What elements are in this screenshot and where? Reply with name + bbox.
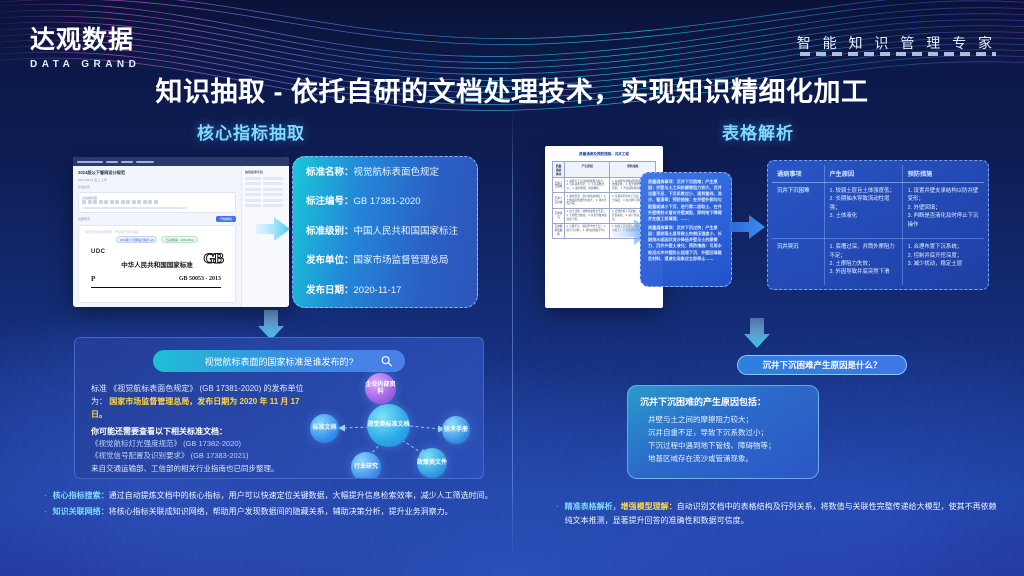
- arrow-right-icon-left: [256, 216, 290, 242]
- info-key: 标注编号：: [306, 196, 354, 207]
- bullet-lead: 知识关联网络：: [53, 507, 109, 516]
- answer-item: 地基区域存在流沙或管涌现象。: [640, 453, 806, 466]
- gb-rule-line: [91, 287, 221, 288]
- column-divider: [512, 108, 513, 558]
- doc-mock-side-row: [245, 182, 286, 185]
- page-title: 知识抽取 - 依托自研的文档处理技术，实现知识精细化加工: [0, 70, 1024, 109]
- doc-mock-toolbar-icons: [82, 200, 232, 204]
- doc-mock-meta: 2024-08-12 张三 上传: [78, 178, 236, 182]
- doc-mock-preview-note: 本文件仅供内容预览，严禁用于商业用途: [85, 230, 229, 234]
- info-value: 中国人民共和国国家标注: [354, 226, 459, 237]
- search-input[interactable]: 视觉航标表面的国家标准是谁发布的?: [153, 350, 405, 372]
- info-key: 标准名称：: [306, 167, 354, 178]
- section-title-left: 核心指标抽取: [197, 119, 305, 144]
- slide-canvas: 达观数据 DATA GRAND 智 能 知 识 管 理 专 家 知识抽取 - 依…: [0, 0, 1024, 576]
- extracted-fields-card: 标准名称：视觉航标表面色规定 标注编号：GB 17381-2020 标准级别：中…: [292, 156, 478, 308]
- table-cell-cause: 1. 刃脚不平、遇到不均匀土层； 2. 取土不对称； 3. 基坑边堆载不均。: [565, 223, 610, 238]
- info-value: 视觉航标表面色规定: [354, 167, 440, 178]
- doc-mock-main: 2024版公下管网设计规范 2024-08-12 张三 上传 标准文件 文档解析…: [73, 166, 241, 307]
- extract-paragraph: 质量通病事项：沉井下沉过快；产生原因：遇较弱土层导致土的侧压强度小、长期排水或因…: [648, 225, 724, 262]
- logo-text-en: DATA GRAND: [30, 59, 140, 70]
- doc-mock-side-row: [245, 177, 286, 180]
- structured-header-row: 通病事项 产生原因 预防措施: [772, 165, 984, 183]
- structured-table-grid: 通病事项 产生原因 预防措施 沉井下沉困难 1. 较弱土层且土体强度低； 2. …: [772, 165, 984, 285]
- structured-cell-cause: 1. 较弱土层且土体强度低； 2. 长期抽水导致流动性增强； 3. 土体液化: [824, 183, 902, 239]
- search-icon[interactable]: [380, 355, 393, 368]
- structured-cell-cause: 1. 底槽过深、井筒外摩阻力不足； 2. 土摩阻力失效； 3. 外因导致井底突然…: [824, 239, 902, 285]
- answer-bubble-right: 沉井下沉困难的产生原因包括： 井壁与土之间的摩擦阻力较大； 沉井自重不足，导致下…: [627, 385, 819, 479]
- doc-mock-preview: 本文件仅供内容预览，严禁用于商业用途 2024版公下管网设计规范.pdf 已完成…: [78, 225, 236, 303]
- tagline-underline: [800, 52, 996, 56]
- qa-answer-line1: 标准 《视觉航标表面色规定》 (GB 17381-2020) 的发布单位为： 国…: [91, 382, 307, 422]
- doc-mock-titlebar: [73, 157, 289, 166]
- table-mock-th: 产生原因: [565, 162, 610, 178]
- structured-cell-item: 沉井突沉: [772, 239, 824, 285]
- search-input-value: 视觉航标表面的国家标准是谁发布的?: [204, 355, 353, 368]
- bullet-text: 通过自动提炼文档中的核心指标，用户可以快速定位关键数据，大幅提升信息检索效率，减…: [109, 491, 493, 500]
- kg-node-tech-manual[interactable]: 技术手册: [442, 416, 470, 444]
- bullet-dot-icon: ·: [44, 505, 47, 519]
- info-key: 发布单位：: [306, 255, 354, 266]
- structured-th-item: 通病事项: [772, 165, 824, 183]
- arrow-right-icon-to-table: [729, 214, 765, 240]
- question-bubble-right[interactable]: 沉井下沉困难产生原因是什么？: [737, 355, 907, 375]
- logo-text-cn: 达观数据: [30, 20, 140, 56]
- gb-udc-label: UDC: [91, 249, 106, 255]
- answer-item: 下沉过程中遇到地下管线、障碍物等；: [640, 440, 806, 453]
- info-row: 发布日期：2020-11-17: [306, 286, 464, 296]
- structured-cell-item: 沉井下沉困难: [772, 183, 824, 239]
- table-cell-item: 沉井倾斜及偏移: [553, 223, 565, 238]
- structured-th-measure: 预防措施: [902, 165, 984, 183]
- info-value: GB 17381-2020: [354, 196, 421, 207]
- qa-answer-highlight: 国家市场监督管理总局，发布日期为 2020 年 11 月 17 日。: [91, 397, 300, 419]
- structured-table: 通病事项 产生原因 预防措施 沉井下沉困难 1. 较弱土层且土体强度低； 2. …: [767, 160, 989, 290]
- doc-mock-tag: 标准文件: [78, 185, 236, 189]
- kg-node-standard-doc[interactable]: 标准文档: [310, 414, 339, 443]
- info-row: 标注编号：GB 17381-2020: [306, 197, 464, 207]
- structured-table-row: 沉井突沉 1. 底槽过深、井筒外摩阻力不足； 2. 土摩阻力失效； 3. 外因导…: [772, 239, 984, 285]
- structured-table-row: 沉井下沉困难 1. 较弱土层且土体强度低； 2. 长期抽水导致流动性增强； 3.…: [772, 183, 984, 239]
- section-title-right: 表格解析: [722, 119, 794, 144]
- structured-th-cause: 产生原因: [824, 165, 902, 183]
- qa-answer-ref: 《视觉航标灯光强度规范》 (GB 17382-2020): [91, 438, 307, 450]
- structured-cell-measure: 1. 合理布置下沉系统； 2. 控制井底开挖深度； 3. 减少扰动，稳定土层: [902, 239, 984, 285]
- arrow-down-icon-right: [744, 318, 770, 348]
- extract-paragraph: 质量通病事项：沉井下沉困难；产生原因：井壁与土之间的摩擦阻力较大、沉井自重不足、…: [648, 179, 724, 222]
- info-row: 发布单位：国家市场监督管理总局: [306, 256, 464, 266]
- qa-answer-footer: 来自交通运输部、工信部的相关行业指南也已同步整理。: [91, 463, 307, 475]
- doc-mock-side-row: [245, 199, 286, 202]
- info-value: 国家市场监督管理总局: [354, 255, 449, 266]
- info-value: 2020-11-17: [354, 285, 402, 296]
- answer-item: 沉井自重不足，导致下沉系数过小；: [640, 427, 806, 440]
- table-cell-cause: 1. 底土过软、井壁外摩阻力不足； 2. 土摩阻力失效； 3. 外因导致井底突然…: [565, 208, 610, 223]
- table-mock-th: 质量通病事项: [553, 162, 565, 178]
- kg-node-policy-doc[interactable]: 政策类文件: [417, 448, 447, 478]
- answer-item: 井壁与土之间的摩擦阻力较大；: [640, 414, 806, 427]
- doc-mock-preview-label: 结果预览: [78, 217, 90, 221]
- qa-answer-left: 标准 《视觉航标表面色规定》 (GB 17381-2020) 的发布单位为： 国…: [91, 382, 307, 475]
- info-key: 发布日期：: [306, 285, 354, 296]
- knowledge-graph: 视觉类标准文档 企业内部资料 标准文档 技术手册 政策类文件 行业研究: [307, 376, 477, 476]
- table-cell-cause: 1. 井壁与土之间的摩擦阻力较大； 2. 沉井自重不足； 3. 下沉系数过小； …: [565, 178, 610, 193]
- gb-category: P: [91, 275, 95, 283]
- bullet-row: · 精准表格解析，增强模型理解：自动识别文档中的表格结构及行列关系，将数值与关联…: [556, 500, 1004, 528]
- bullet-row: · 知识关联网络：将核心指标关联成知识网络，帮助用户发现数据间的隐藏关系，辅助决…: [44, 505, 496, 519]
- qa-panel-left: 视觉航标表面的国家标准是谁发布的? 标准 《视觉航标表面色规定》 (GB 173…: [74, 337, 484, 479]
- bullet-lead: 核心指标搜索：: [53, 491, 109, 500]
- table-cell-item: 沉井下沉过快: [553, 193, 565, 208]
- doc-mock-gb-page: UDC 中华人民共和国国家标准 GB P GB 50053 - 2013: [85, 247, 229, 298]
- doc-mock-side-title: 抽取结果字段: [245, 170, 286, 174]
- brand-logo: 达观数据 DATA GRAND: [30, 20, 140, 70]
- doc-mock-side-row: [245, 188, 286, 191]
- gb-logo-mark: GB: [203, 251, 223, 268]
- doc-mock-toolbar-card: 文档解析器: [78, 192, 236, 213]
- qa-answer-ref: 《视觉信号配置及识别要求》 (GB 17383-2021): [91, 450, 307, 462]
- extracted-text-bubble: 质量通病事项：沉井下沉困难；产生原因：井壁与土之间的摩擦阻力较大、沉井自重不足、…: [640, 172, 732, 287]
- table-cell-cause: 1. 遇到淤泥、流沙等软弱地层； 2. 土体强度低或含水量大； 3. 排水开挖过…: [565, 193, 610, 208]
- doc-mock-chip-file: 2024版公下管网设计规范.pdf: [116, 236, 157, 243]
- doc-mock-parse-button[interactable]: 开始解析: [216, 216, 236, 222]
- doc-mock-chips: 2024版公下管网设计规范.pdf 已完成解析 · 2024-08-12: [85, 236, 229, 243]
- doc-mock-side-row: [245, 193, 286, 196]
- bullet-dot-icon: ·: [44, 489, 47, 503]
- info-key: 标准级别：: [306, 226, 354, 237]
- gb-code-text: GB 50053 - 2013: [179, 276, 221, 282]
- bullet-dot-icon: ·: [556, 500, 559, 528]
- gb-title-text: 中华人民共和国国家标准: [121, 259, 193, 269]
- doc-mock-heading: 2024版公下管网设计规范: [78, 170, 236, 175]
- qa-answer-subtitle: 你可能还需要查看以下相关标准文档：: [91, 425, 307, 438]
- info-row: 标准名称：视觉航标表面色规定: [306, 168, 464, 178]
- doc-mock-side-row: [245, 204, 286, 207]
- header-tagline: 智 能 知 识 管 理 专 家: [797, 33, 996, 53]
- kg-node-enterprise[interactable]: 企业内部资料: [365, 373, 396, 404]
- structured-cell-measure: 1. 设置井壁支承结构以防井壁变形； 2. 外壁回填； 3. 判断是否液化及时停…: [902, 183, 984, 239]
- bullet-text: 将核心指标关联成知识网络，帮助用户发现数据间的隐藏关系，辅助决策分析，提升业务洞…: [109, 507, 453, 516]
- bullet-row: · 核心指标搜索：通过自动提炼文档中的核心指标，用户可以快速定位关键数据，大幅提…: [44, 489, 496, 503]
- bullet-lead-secondary: 增强模型理解：: [621, 502, 677, 511]
- bullets-left: · 核心指标搜索：通过自动提炼文档中的核心指标，用户可以快速定位关键数据，大幅提…: [44, 489, 496, 521]
- bullet-lead: 精准表格解析，: [565, 502, 621, 511]
- answer-title: 沉井下沉困难的产生原因包括：: [640, 395, 806, 408]
- kg-node-center[interactable]: 视觉类标准文档: [367, 404, 410, 447]
- table-cell-item: 沉井下沉困难: [553, 178, 565, 193]
- kg-node-industry-research[interactable]: 行业研究: [351, 452, 381, 479]
- table-mock-header-row: 质量通病事项 产生原因 预防措施: [553, 162, 656, 178]
- table-mock-title: 质量通病及预防措施 - 沉井工程: [552, 152, 656, 157]
- doc-mock-chip-status: 已完成解析 · 2024-08-12: [161, 236, 198, 243]
- bullets-right: · 精准表格解析，增强模型理解：自动识别文档中的表格结构及行列关系，将数值与关联…: [556, 500, 1004, 530]
- table-cell-item: 沉井突沉: [553, 208, 565, 223]
- info-row: 标准级别：中国人民共和国国家标注: [306, 227, 464, 237]
- arrow-down-icon-left: [258, 310, 284, 340]
- answer-list: 井壁与土之间的摩擦阻力较大； 沉井自重不足，导致下沉系数过小； 下沉过程中遇到地…: [640, 414, 806, 466]
